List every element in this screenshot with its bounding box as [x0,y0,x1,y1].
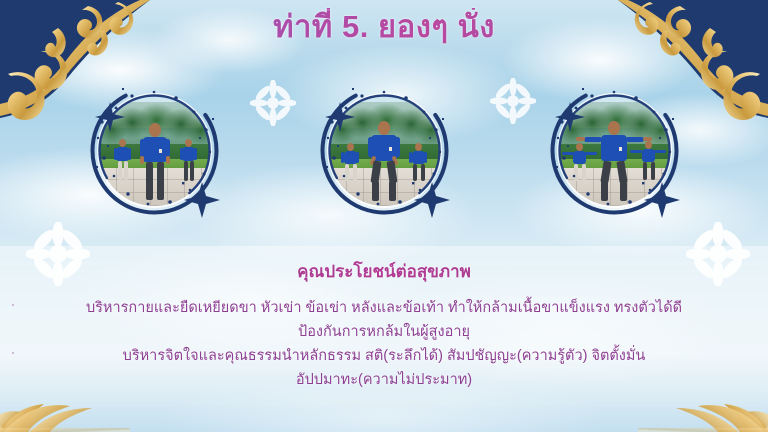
benefits-heading: คุณประโยชน์ต่อสุขภาพ [0,258,768,285]
photo-frame-ring-2 [312,78,457,223]
photo-frame-ring-1 [82,78,227,223]
photo-frame-ring-3 [542,78,687,223]
photo-squat-arms-out[interactable] [542,78,687,223]
photo-squat-middle[interactable] [312,78,457,223]
benefit-line-1-text: บริหารกายและยืดเหยียดขา หัวเข่า ข้อเข่า … [86,300,682,316]
benefit-line-2: ป้องกันการหกล้มในผู้สูงอายุ [22,320,746,344]
slide-canvas: ท่าที่ 5. ยองๆ นั่ง [0,0,768,432]
benefit-line-2-text: ป้องกันการหกล้มในผู้สูงอายุ [298,324,470,340]
benefit-line-4-text: อัปปมาทะ(ความไม่ประมาท) [296,372,472,388]
photo-row [0,78,768,223]
benefit-line-4: อัปปมาทะ(ความไม่ประมาท) [22,368,746,392]
slide-title: ท่าที่ 5. ยองๆ นั่ง [0,8,768,47]
bullet-dot-icon [12,304,14,306]
benefit-line-3-text: บริหารจิตใจและคุณธรรมนำหลักธรรม สติ(ระลึ… [123,348,646,364]
benefits-text-block: บริหารกายและยืดเหยียดขา หัวเข่า ข้อเข่า … [22,296,746,392]
bullet-dot-icon [12,352,14,354]
benefit-line-1: บริหารกายและยืดเหยียดขา หัวเข่า ข้อเข่า … [22,296,746,320]
benefit-line-3: บริหารจิตใจและคุณธรรมนำหลักธรรม สติ(ระลึ… [22,344,746,368]
photo-standing-start[interactable] [82,78,227,223]
